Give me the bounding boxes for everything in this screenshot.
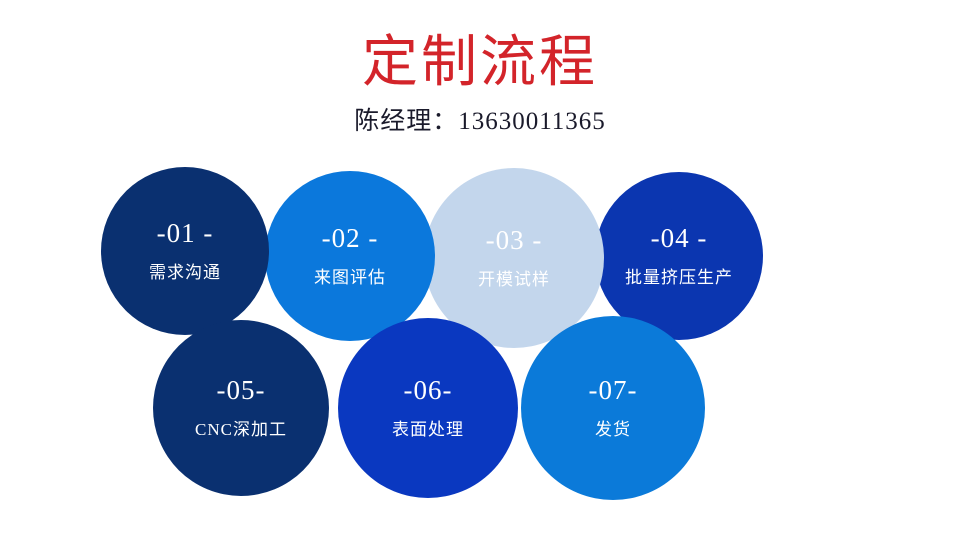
flow-step-02[interactable]: -02 -来图评估	[265, 171, 435, 341]
flow-step-07[interactable]: -07-发货	[521, 316, 705, 500]
flow-diagram: -01 -需求沟通-02 -来图评估-03 -开模试样-04 -批量挤压生产-0…	[0, 0, 960, 560]
flow-step-number: -01 -	[157, 218, 214, 248]
flow-step-number: -05-	[217, 375, 266, 405]
flow-step-label: 批量挤压生产	[625, 267, 733, 289]
flow-step-04[interactable]: -04 -批量挤压生产	[595, 172, 763, 340]
flow-step-number: -06-	[404, 375, 453, 405]
flow-step-label: 来图评估	[314, 267, 386, 289]
flow-step-number: -03 -	[486, 225, 543, 255]
flow-step-label: 需求沟通	[149, 262, 221, 284]
flow-step-label: CNC深加工	[195, 419, 287, 441]
flow-step-06[interactable]: -06-表面处理	[338, 318, 518, 498]
flow-step-number: -07-	[589, 375, 638, 405]
flow-step-01[interactable]: -01 -需求沟通	[101, 167, 269, 335]
flow-step-05[interactable]: -05-CNC深加工	[153, 320, 329, 496]
flow-step-label: 开模试样	[478, 269, 550, 291]
flow-step-label: 发货	[595, 419, 631, 441]
flow-step-label: 表面处理	[392, 419, 464, 441]
flow-step-number: -04 -	[651, 223, 708, 253]
flow-step-number: -02 -	[322, 223, 379, 253]
slide-canvas: 定制流程 陈经理：13630011365 -01 -需求沟通-02 -来图评估-…	[0, 0, 960, 560]
